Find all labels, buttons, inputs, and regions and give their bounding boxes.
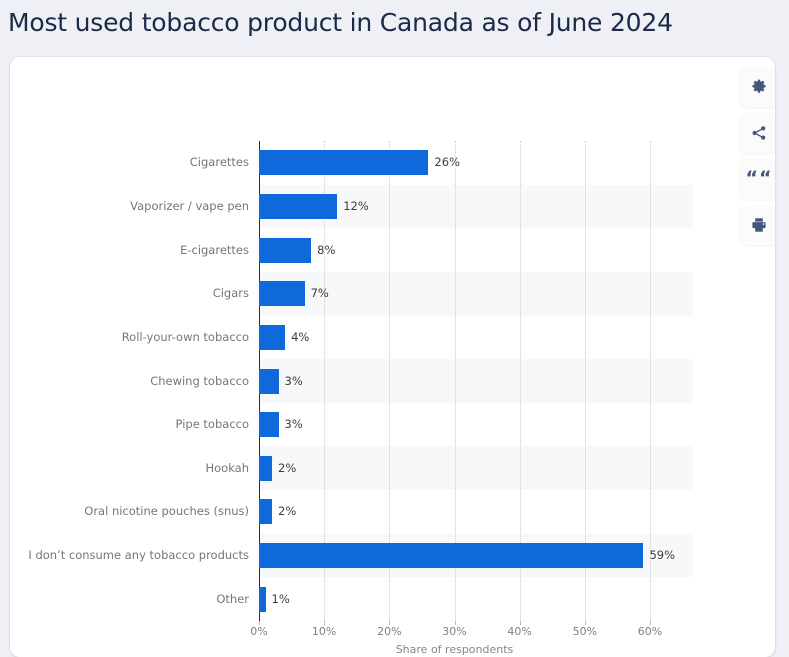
x-tick-label: 60%	[638, 625, 662, 638]
x-tick-mark	[324, 621, 325, 625]
y-axis-label: Vaporizer / vape pen	[130, 194, 249, 219]
x-tick-mark	[455, 621, 456, 625]
share-button[interactable]	[739, 113, 775, 153]
y-axis-label: Other	[216, 587, 249, 612]
chart-toolbar: ““	[736, 67, 775, 245]
x-tick-mark	[259, 621, 260, 625]
bar[interactable]	[259, 194, 337, 219]
y-axis-label: Pipe tobacco	[176, 412, 249, 437]
x-axis-ticks: 0%10%20%30%40%50%60%	[259, 625, 679, 643]
y-axis-label: I don’t consume any tobacco products	[28, 543, 249, 568]
y-axis-label: Cigarettes	[190, 150, 249, 175]
x-tick-label: 30%	[442, 625, 466, 638]
bar-value-label: 4%	[285, 325, 309, 350]
x-tick-mark	[520, 621, 521, 625]
plot-area: 26%12%8%7%4%3%3%2%2%59%1%	[259, 141, 650, 621]
y-axis-label: Cigars	[213, 281, 249, 306]
bar[interactable]	[259, 543, 643, 568]
bar-value-label: 2%	[272, 456, 296, 481]
bar[interactable]	[259, 369, 279, 394]
x-tick-label: 50%	[573, 625, 597, 638]
x-tick-label: 0%	[250, 625, 267, 638]
page-title: Most used tobacco product in Canada as o…	[8, 2, 768, 44]
chart-card: CigarettesVaporizer / vape penE-cigarett…	[10, 57, 775, 657]
bar-value-label: 7%	[305, 281, 329, 306]
bar-value-label: 12%	[337, 194, 369, 219]
bar-value-label: 3%	[279, 412, 303, 437]
bar[interactable]	[259, 238, 311, 263]
y-axis-label: Oral nicotine pouches (snus)	[84, 499, 249, 524]
x-tick-label: 10%	[312, 625, 336, 638]
x-tick-label: 20%	[377, 625, 401, 638]
bar[interactable]	[259, 412, 279, 437]
print-button[interactable]	[739, 205, 775, 245]
x-tick-mark	[389, 621, 390, 625]
bar-value-label: 26%	[428, 150, 460, 175]
bar-value-label: 3%	[279, 369, 303, 394]
bar-value-label: 1%	[266, 587, 290, 612]
bar-value-label: 8%	[311, 238, 335, 263]
bar[interactable]	[259, 281, 305, 306]
share-icon	[751, 125, 767, 141]
print-icon	[751, 217, 767, 233]
bar[interactable]	[259, 325, 285, 350]
y-axis-label: Chewing tobacco	[150, 369, 249, 394]
quote-icon: ““	[746, 169, 773, 188]
citation-button[interactable]: ““	[739, 159, 775, 199]
bar-value-label: 2%	[272, 499, 296, 524]
x-tick-label: 40%	[507, 625, 531, 638]
bar[interactable]	[259, 456, 272, 481]
y-axis-label: E-cigarettes	[180, 238, 249, 263]
bar-value-label: 59%	[643, 543, 675, 568]
y-axis-labels: CigarettesVaporizer / vape penE-cigarett…	[10, 141, 249, 621]
bar[interactable]	[259, 499, 272, 524]
settings-button[interactable]	[739, 67, 775, 107]
y-axis-label: Roll-your-own tobacco	[122, 325, 249, 350]
gear-icon	[751, 79, 767, 95]
x-tick-mark	[650, 621, 651, 625]
x-tick-mark	[585, 621, 586, 625]
y-axis-label: Hookah	[205, 456, 249, 481]
bar[interactable]	[259, 150, 428, 175]
x-axis-title: Share of respondents	[259, 643, 650, 656]
